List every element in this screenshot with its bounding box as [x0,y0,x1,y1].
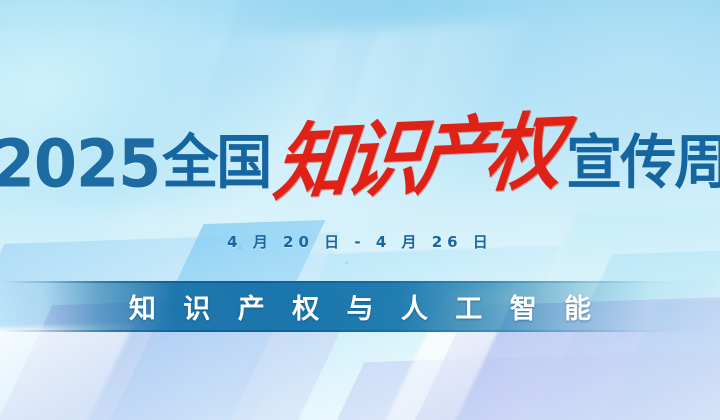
page-title: 2025 全国 知识产权 宣传周 [0,122,720,206]
title-year: 2025 [0,131,160,197]
date-range-label: 4 月 20 日 - 4 月 26 日 [0,231,720,252]
theme-slogan: 知 识 产 权 与 人 工 智 能 [120,287,600,326]
title-suffix-week: 宣传周 [566,135,720,193]
theme-banner-bar: 知 识 产 权 与 人 工 智 能 [0,281,720,332]
banner-content: 2025 全国 知识产权 宣传周 4 月 20 日 - 4 月 26 日 知 识… [0,0,720,420]
title-highlight-ip: 知识产权 [271,110,562,206]
title-prefix-national: 全国 [162,135,270,193]
ip-week-banner: ▵ ▵ 2025 全国 知识产权 宣传周 4 月 20 日 - 4 月 26 日… [0,0,720,420]
